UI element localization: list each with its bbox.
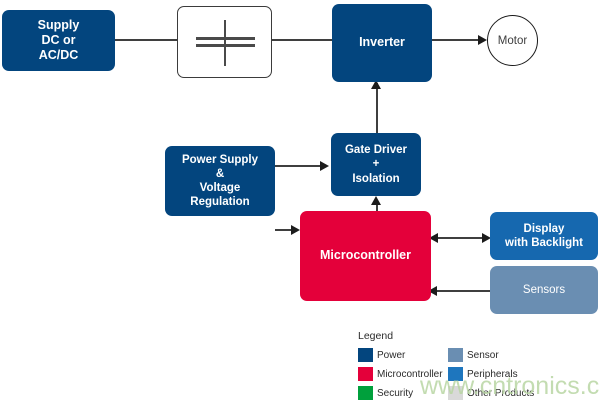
block-gate-driver-line3: Isolation [345,172,407,186]
wire-powersupply-to-microcontroller [275,229,292,231]
legend-item-security: Security [358,384,443,402]
legend-item-other-products: Other Products [448,384,534,402]
block-supply[interactable]: Supply DC or AC/DC [2,10,115,71]
capacitor-plate-bottom [196,44,255,47]
block-power-supply[interactable]: Power Supply & Voltage Regulation [165,146,275,216]
block-gate-driver-line1: Gate Driver [345,143,407,157]
block-microcontroller-label: Microcontroller [320,248,411,263]
block-inverter-label: Inverter [359,35,405,50]
wire-sensors-to-microcontroller [437,290,490,292]
legend-label-sensor: Sensor [467,350,499,361]
wire-inverter-to-motor [432,39,480,41]
block-inverter[interactable]: Inverter [332,4,432,82]
legend-swatch-sensor [448,348,463,362]
arrow-powersupply-to-microcontroller [291,225,300,235]
wire-supply-to-capacitor [115,39,177,41]
block-sensors[interactable]: Sensors [490,266,598,314]
block-motor-label: Motor [498,35,527,47]
wire-gatedriver-to-inverter [376,83,378,133]
legend-label-security: Security [377,388,413,399]
legend-swatch-peripherals [448,367,463,381]
legend-label-microcontroller: Microcontroller [377,369,443,380]
block-power-supply-line1: Power Supply [182,153,258,167]
legend-title: Legend [358,330,393,342]
block-supply-line2: DC or [38,33,80,48]
block-display-line2: with Backlight [505,236,583,250]
wire-powersupply-to-gatedriver [275,165,321,167]
block-gate-driver-line2: + [345,157,407,171]
block-sensors-label: Sensors [523,283,565,297]
legend-swatch-other-products [448,386,463,400]
block-capacitor[interactable] [177,6,272,78]
legend-column-1: Power Microcontroller Security [358,346,443,403]
legend-swatch-microcontroller [358,367,373,381]
block-microcontroller[interactable]: Microcontroller [300,211,431,301]
block-power-supply-line3: Voltage [182,181,258,195]
arrow-microcontroller-to-gatedriver [371,196,381,205]
legend-column-2: Sensor Peripherals Other Products [448,346,534,403]
block-display[interactable]: Display with Backlight [490,212,598,260]
wire-capacitor-to-inverter [272,39,332,41]
legend-label-peripherals: Peripherals [467,369,518,380]
arrow-powersupply-to-gatedriver [320,161,329,171]
block-gate-driver[interactable]: Gate Driver + Isolation [331,133,421,196]
legend: Legend Power Microcontroller Security Se… [358,330,598,404]
legend-item-peripherals: Peripherals [448,365,534,383]
legend-item-microcontroller: Microcontroller [358,365,443,383]
legend-label-other-products: Other Products [467,388,534,399]
legend-label-power: Power [377,350,405,361]
legend-swatch-power [358,348,373,362]
legend-item-sensor: Sensor [448,346,534,364]
block-display-line1: Display [505,222,583,236]
block-power-supply-line2: & [182,167,258,181]
arrow-inverter-to-motor [478,35,487,45]
legend-item-power: Power [358,346,443,364]
block-power-supply-line4: Regulation [182,195,258,209]
block-diagram-canvas: Supply DC or AC/DC Inverter Motor Gate D… [0,0,600,407]
block-motor[interactable]: Motor [487,15,538,66]
capacitor-plate-top [196,37,255,40]
block-supply-line3: AC/DC [38,48,80,63]
legend-swatch-security [358,386,373,400]
wire-microcontroller-to-display [438,237,488,239]
capacitor-vertical-line [224,20,226,66]
block-supply-line1: Supply [38,18,80,33]
